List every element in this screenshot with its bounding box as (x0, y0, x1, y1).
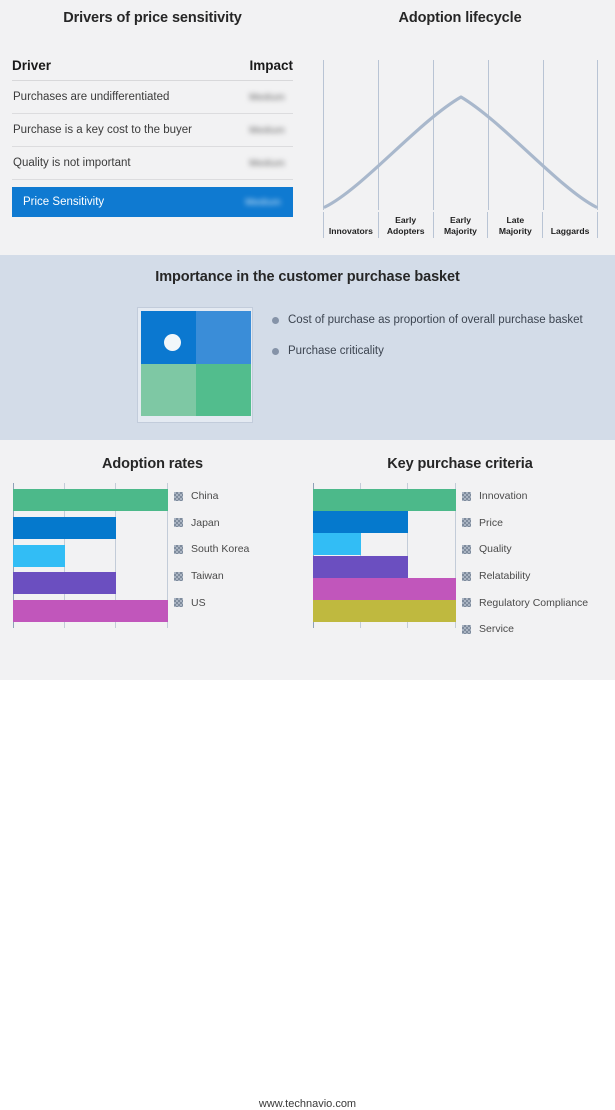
bar-us[interactable] (13, 600, 168, 622)
legend-label: US (191, 597, 206, 609)
bar-row-south-korea[interactable] (13, 545, 168, 567)
legend-item-price[interactable]: Price (462, 510, 588, 537)
key-purchase-criteria-panel: Key purchase criteria (305, 440, 615, 680)
bottom-band: Adoption rates (0, 440, 615, 680)
lifecycle-segment-early-majority[interactable]: Early Majority (433, 212, 488, 238)
driver-label: Quality is not important (12, 157, 131, 169)
driver-label: Purchase is a key cost to the buyer (12, 124, 192, 136)
bar-taiwan[interactable] (13, 572, 116, 594)
impact-value: Medium (249, 125, 293, 136)
legend-label: Quality (479, 543, 512, 555)
adoption-curve-path (325, 97, 596, 207)
impact-value: Medium (245, 197, 283, 208)
legend-label: Purchase criticality (288, 344, 384, 359)
bar-row-regulatory-compliance[interactable] (313, 578, 456, 600)
bar-quality[interactable] (313, 533, 361, 555)
legend-item-south-korea[interactable]: South Korea (174, 536, 249, 563)
legend-item-japan[interactable]: Japan (174, 510, 249, 537)
legend-item-quality[interactable]: Quality (462, 536, 588, 563)
segment-line2: Majority (434, 226, 488, 237)
legend-label: China (191, 490, 218, 502)
bullet-icon (272, 317, 279, 324)
quadrant-matrix (141, 311, 251, 416)
drivers-panel-title: Drivers of price sensitivity (0, 10, 305, 26)
legend-item-innovation[interactable]: Innovation (462, 483, 588, 510)
lifecycle-axis-labels: Innovators Early Adopters Early Majority… (323, 212, 598, 238)
top-band: Drivers of price sensitivity Driver Impa… (0, 0, 615, 255)
bar-china[interactable] (13, 489, 168, 511)
bar-service[interactable] (313, 600, 456, 622)
legend-label: Cost of purchase as proportion of overal… (288, 313, 583, 328)
list-item: Purchase criticality (272, 344, 592, 359)
lifecycle-gridlines (324, 60, 598, 210)
column-header-driver: Driver (12, 58, 51, 73)
bar-row-china[interactable] (13, 489, 168, 511)
bar-row-innovation[interactable] (313, 489, 456, 511)
bell-curve-svg (323, 60, 598, 210)
segment-line1: Early (379, 215, 433, 226)
segment-line1: Early (434, 215, 488, 226)
basket-legend: Cost of purchase as proportion of overal… (272, 313, 592, 374)
legend-label: Regulatory Compliance (479, 597, 588, 609)
bar-south-korea[interactable] (13, 545, 65, 567)
bar-row-taiwan[interactable] (13, 572, 168, 594)
segment-line2: Majority (488, 226, 542, 237)
bar-japan[interactable] (13, 517, 116, 539)
legend-label: Japan (191, 517, 220, 529)
bar-row-service[interactable] (313, 600, 456, 622)
key-purchase-criteria-legend: Innovation Price Quality Relatability Re… (462, 483, 588, 643)
infographic-root: Drivers of price sensitivity Driver Impa… (0, 0, 615, 680)
bar-series (313, 489, 456, 622)
quadrant-bottom-right[interactable] (196, 364, 251, 417)
legend-label: Innovation (479, 490, 527, 502)
legend-swatch-icon (462, 492, 471, 501)
legend-swatch-icon (462, 518, 471, 527)
legend-swatch-icon (174, 572, 183, 581)
legend-swatch-icon (174, 545, 183, 554)
legend-item-service[interactable]: Service (462, 616, 588, 643)
footer-url: www.technavio.com (0, 1098, 615, 1110)
legend-swatch-icon (462, 545, 471, 554)
segment-line1: Late (488, 215, 542, 226)
drivers-table: Driver Impact Purchases are undifferenti… (12, 58, 293, 217)
quadrant-matrix-frame (137, 307, 253, 423)
driver-label: Purchases are undifferentiated (12, 91, 169, 103)
quadrant-top-right[interactable] (196, 311, 251, 364)
adoption-rates-title: Adoption rates (0, 456, 305, 472)
lifecycle-segment-late-majority[interactable]: Late Majority (487, 212, 542, 238)
legend-label: Service (479, 623, 514, 635)
adoption-rates-chart (13, 483, 168, 628)
legend-swatch-icon (174, 598, 183, 607)
bar-relatability[interactable] (313, 556, 408, 578)
bar-row-japan[interactable] (13, 517, 168, 539)
list-item: Cost of purchase as proportion of overal… (272, 313, 592, 328)
lifecycle-panel-title: Adoption lifecycle (305, 10, 615, 26)
table-row[interactable]: Quality is not important Medium (12, 147, 293, 180)
key-purchase-criteria-title: Key purchase criteria (305, 456, 615, 472)
legend-label: Taiwan (191, 570, 224, 582)
bar-row-us[interactable] (13, 600, 168, 622)
segment-line2: Adopters (379, 226, 433, 237)
legend-swatch-icon (462, 572, 471, 581)
position-marker-dot (164, 334, 181, 351)
bar-innovation[interactable] (313, 489, 456, 511)
legend-label: Relatability (479, 570, 530, 582)
impact-value: Medium (249, 158, 293, 169)
basket-panel-title: Importance in the customer purchase bask… (0, 269, 615, 285)
bar-price[interactable] (313, 511, 408, 533)
table-row[interactable]: Purchases are undifferentiated Medium (12, 81, 293, 114)
adoption-lifecycle-panel: Adoption lifecycle (305, 0, 615, 255)
bar-row-quality[interactable] (313, 533, 456, 555)
legend-label: South Korea (191, 543, 249, 555)
legend-item-regulatory-compliance[interactable]: Regulatory Compliance (462, 589, 588, 616)
purchase-basket-panel: Importance in the customer purchase bask… (0, 255, 615, 440)
bar-row-relatability[interactable] (313, 556, 456, 578)
bar-row-price[interactable] (313, 511, 456, 533)
bar-series (13, 489, 168, 622)
impact-value: Medium (249, 92, 293, 103)
lifecycle-segment-early-adopters[interactable]: Early Adopters (378, 212, 433, 238)
lifecycle-segment-laggards[interactable]: Laggards (542, 212, 598, 238)
bullet-icon (272, 348, 279, 355)
legend-item-us[interactable]: US (174, 589, 249, 616)
legend-item-relatability[interactable]: Relatability (462, 563, 588, 590)
legend-item-china[interactable]: China (174, 483, 249, 510)
adoption-rates-legend: China Japan South Korea Taiwan US (174, 483, 249, 616)
legend-item-taiwan[interactable]: Taiwan (174, 563, 249, 590)
legend-swatch-icon (462, 598, 471, 607)
bar-regulatory-compliance[interactable] (313, 578, 456, 600)
quadrant-bottom-left[interactable] (141, 364, 196, 417)
lifecycle-segment-innovators[interactable]: Innovators (323, 212, 378, 238)
table-row[interactable]: Purchase is a key cost to the buyer Medi… (12, 114, 293, 147)
legend-swatch-icon (462, 625, 471, 634)
segment-line2: Innovators (324, 226, 378, 237)
drivers-panel: Drivers of price sensitivity Driver Impa… (0, 0, 305, 255)
adoption-rates-panel: Adoption rates (0, 440, 305, 680)
lifecycle-curve-plot (323, 60, 598, 210)
key-purchase-criteria-chart (313, 483, 456, 628)
table-row-highlighted[interactable]: Price Sensitivity Medium (12, 187, 293, 217)
legend-swatch-icon (174, 492, 183, 501)
legend-swatch-icon (174, 518, 183, 527)
driver-label: Price Sensitivity (22, 196, 104, 208)
drivers-table-header: Driver Impact (12, 58, 293, 81)
legend-label: Price (479, 517, 503, 529)
segment-line2: Laggards (543, 226, 597, 237)
column-header-impact: Impact (249, 58, 293, 73)
